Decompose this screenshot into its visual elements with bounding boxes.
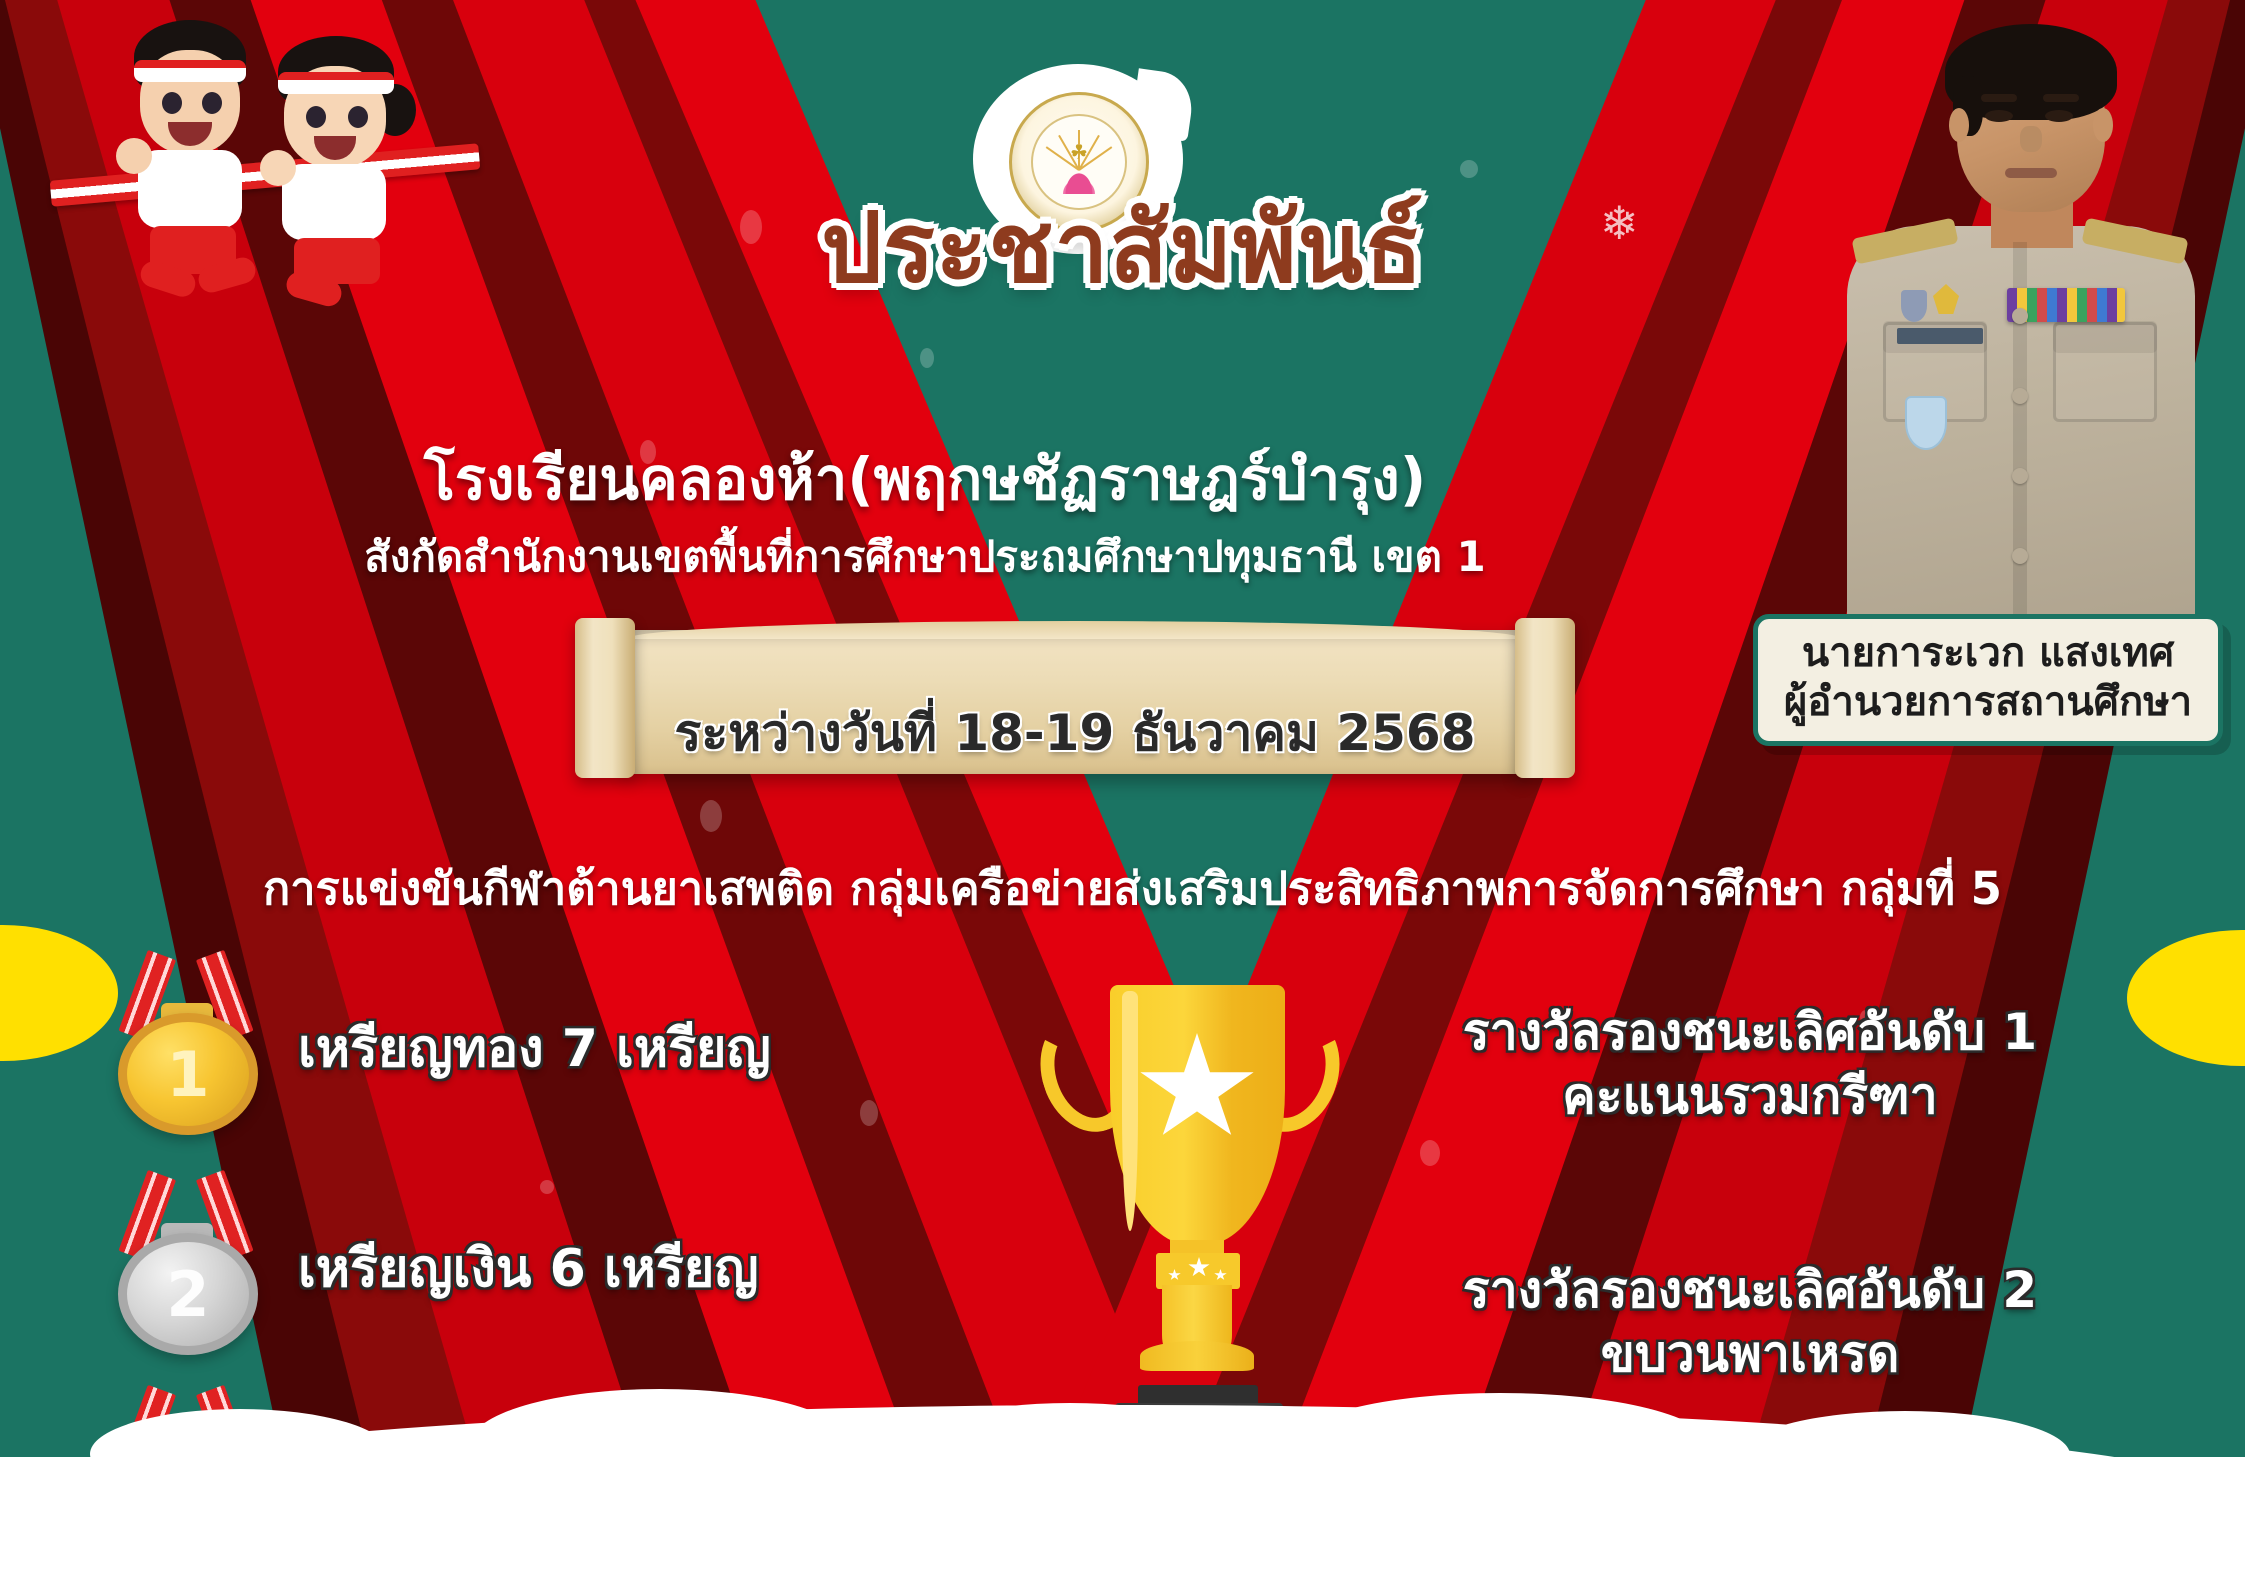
medal-row-gold: 1 เหรียญทอง 7 เหรียญ — [105, 955, 771, 1140]
affiliation-line: สังกัดสำนักงานเขตพื้นที่การศึกษาประถมศึก… — [300, 524, 1550, 590]
date-scroll-banner: ระหว่างวันที่ 18-19 ธันวาคม 2568 — [575, 618, 1575, 778]
confetti-dot — [700, 800, 722, 832]
medal-rank: 1 — [118, 1013, 258, 1135]
confetti-dot — [860, 1100, 878, 1126]
scroll-roll-right — [1515, 618, 1575, 778]
director-photo — [1805, 22, 2235, 662]
award-2-line1: รางวัลรองชนะเลิศอันดับ 2 — [1330, 1258, 2170, 1322]
silver-medal-icon: 2 — [105, 1175, 270, 1360]
bottom-snow-band — [0, 1457, 2245, 1587]
confetti-dot — [1420, 1140, 1440, 1166]
award-2-line2: ขบวนพาเหรด — [1330, 1322, 2170, 1386]
award-1-line2: คะแนนรวมกรีฑา — [1330, 1064, 2170, 1128]
award-first-runner-up: รางวัลรองชนะเลิศอันดับ 1 คะแนนรวมกรีฑา — [1330, 1000, 2170, 1128]
poster-canvas: ❄ — [0, 0, 2245, 1587]
event-headline: การแข่งขันกีฬาต้านยาเสพติด กลุ่มเครือข่า… — [40, 852, 2225, 924]
medal-label-silver: เหรียญเงิน 6 เหรียญ — [298, 1226, 759, 1309]
award-second-runner-up: รางวัลรองชนะเลิศอันดับ 2 ขบวนพาเหรด — [1330, 1258, 2170, 1386]
director-position: ผู้อำนวยการสถานศึกษา — [1772, 678, 2204, 727]
trophy-icon — [1010, 985, 1370, 1445]
scroll-roll-left — [575, 618, 635, 778]
medal-label-gold: เหรียญทอง 7 เหรียญ — [298, 1006, 771, 1089]
award-1-line1: รางวัลรองชนะเลิศอันดับ 1 — [1330, 1000, 2170, 1064]
confetti-dot — [1460, 160, 1478, 178]
medal-rank: 2 — [118, 1233, 258, 1355]
school-name: โรงเรียนคลองห้า(พฤกษชัฏราษฎร์บำรุง) — [300, 432, 1550, 525]
confetti-dot — [920, 348, 934, 368]
event-date: ระหว่างวันที่ 18-19 ธันวาคม 2568 — [635, 694, 1515, 773]
director-nameplate: นายการะเวก แสงเทศ ผู้อำนวยการสถานศึกษา — [1753, 614, 2223, 746]
director-name: นายการะเวก แสงเทศ — [1772, 629, 2204, 678]
gold-medal-icon: 1 — [105, 955, 270, 1140]
medal-row-silver: 2 เหรียญเงิน 6 เหรียญ — [105, 1175, 759, 1360]
